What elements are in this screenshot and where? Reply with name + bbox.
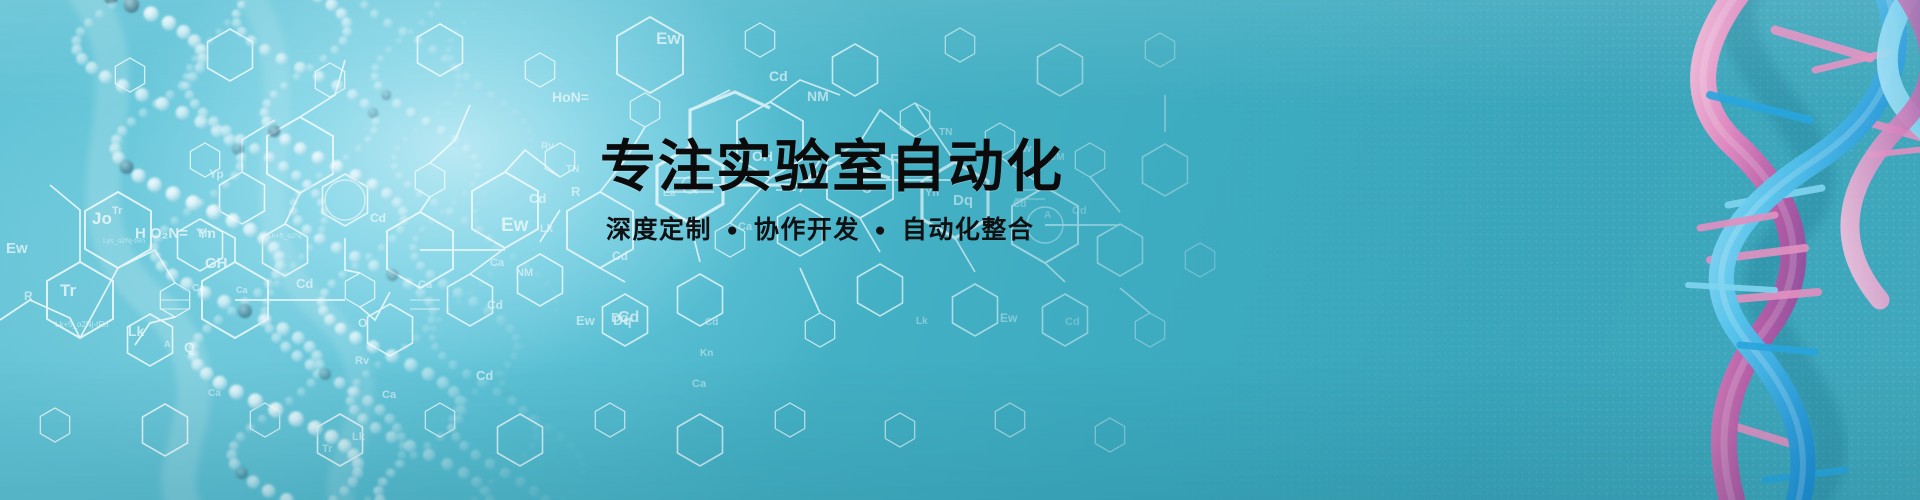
vignette-overlay — [0, 0, 1920, 500]
banner-subtitle: 深度定制 ● 协作开发 ● 自动化整合 — [604, 215, 1360, 245]
hero-banner: TrLk+5_o2Nj-tRnLkJoTrLys_o2Nj-tRnH O₂N=C… — [0, 0, 1920, 500]
banner-copy: 专注实验室自动化 深度定制 ● 协作开发 ● 自动化整合 — [600, 138, 1360, 245]
page-title: 专注实验室自动化 — [600, 138, 1360, 197]
subtitle-part-1: 深度定制 — [606, 216, 712, 244]
subtitle-part-3: 自动化整合 — [902, 216, 1035, 244]
bullet-separator-icon: ● — [726, 220, 739, 241]
bullet-separator-icon-2: ● — [874, 220, 887, 241]
subtitle-part-2: 协作开发 — [754, 216, 860, 244]
